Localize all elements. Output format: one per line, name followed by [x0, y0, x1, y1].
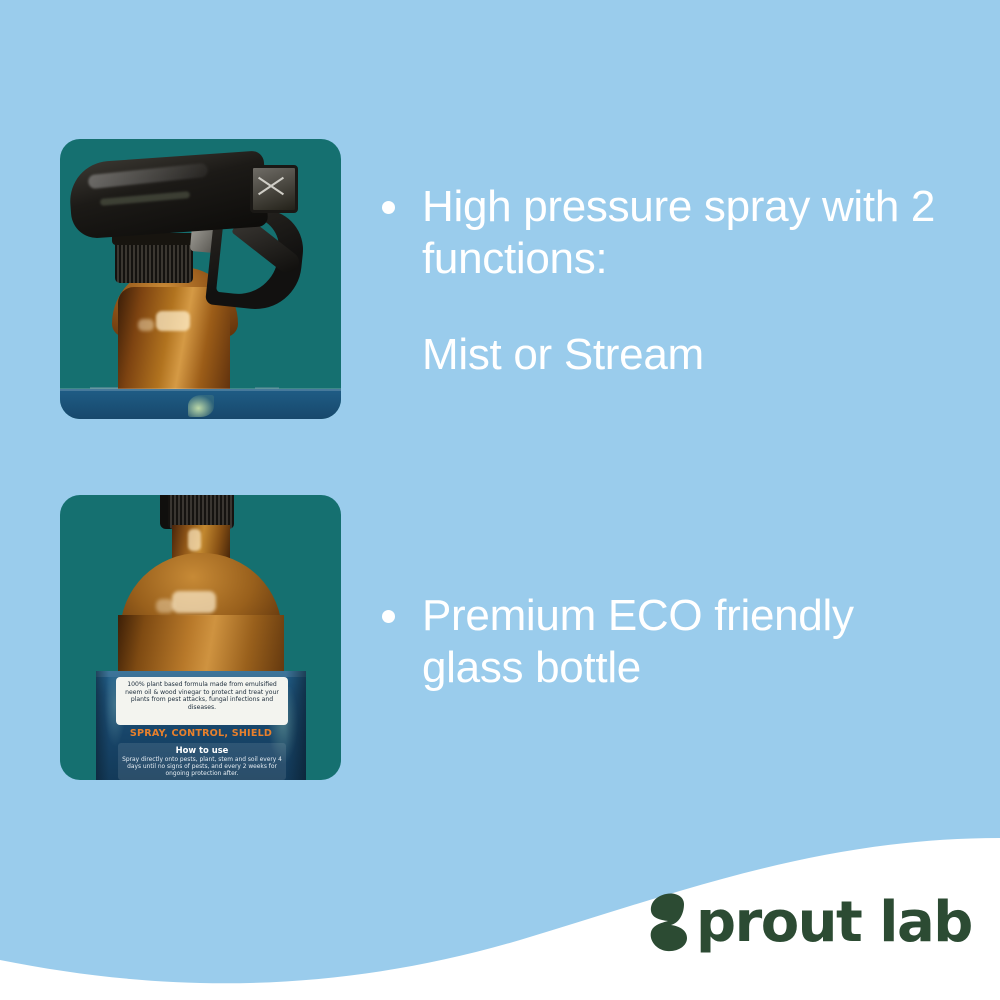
- neck-highlight: [188, 529, 201, 551]
- feature-block-1: High pressure spray with 2 functions: Mi…: [382, 181, 942, 381]
- spray-head-photo: [60, 139, 341, 419]
- feature-bullet-row-2: Premium ECO friendly glass bottle: [382, 590, 962, 694]
- bullet-point-icon: [382, 201, 395, 214]
- spacer: [122, 779, 282, 780]
- label-how-to-use-body: Spray directly onto pests, plant, stem a…: [122, 757, 282, 780]
- glass-highlight-secondary: [138, 319, 154, 331]
- label-description-box: 100% plant based formula made from emuls…: [116, 677, 288, 725]
- feature-block-2: Premium ECO friendly glass bottle: [382, 590, 962, 694]
- feature-subtext-1: Mist or Stream: [422, 329, 942, 381]
- sprayer-collar: [115, 239, 193, 283]
- bottle-cap: [168, 495, 234, 529]
- label-curve-shadow-right: [286, 671, 306, 780]
- feature-text-2: Premium ECO friendly glass bottle: [422, 590, 962, 694]
- nozzle-cross-icon: [256, 171, 286, 201]
- promo-image-canvas: 100% plant based formula made from emuls…: [0, 0, 1000, 1000]
- product-image-card-bottle-label: 100% plant based formula made from emuls…: [60, 495, 341, 780]
- bottle-label-photo: 100% plant based formula made from emuls…: [60, 495, 341, 780]
- bullet-point-icon: [382, 610, 395, 623]
- label-description-text: 100% plant based formula made from emuls…: [121, 681, 283, 711]
- label-how-to-use-title: How to use: [118, 745, 286, 755]
- brand-name-text: prout lab: [696, 890, 972, 955]
- feature-text-1: High pressure spray with 2 functions:: [422, 181, 942, 285]
- glass-highlight-secondary: [156, 599, 174, 613]
- product-image-card-spray-head: [60, 139, 341, 419]
- label-edge-line: [60, 388, 341, 391]
- feature-bullet-row-1: High pressure spray with 2 functions:: [382, 181, 942, 285]
- glass-highlight: [156, 311, 190, 331]
- label-leaf-graphic: [188, 395, 214, 417]
- label-curve-shadow-left: [96, 671, 109, 780]
- leaf-s-icon: [648, 892, 694, 954]
- label-how-to-use-instructions: Spray directly onto pests, plant, stem a…: [122, 757, 282, 779]
- label-tagline: SPRAY, CONTROL, SHIELD: [96, 728, 306, 739]
- glass-highlight: [172, 591, 216, 613]
- brand-logo: prout lab: [648, 890, 972, 955]
